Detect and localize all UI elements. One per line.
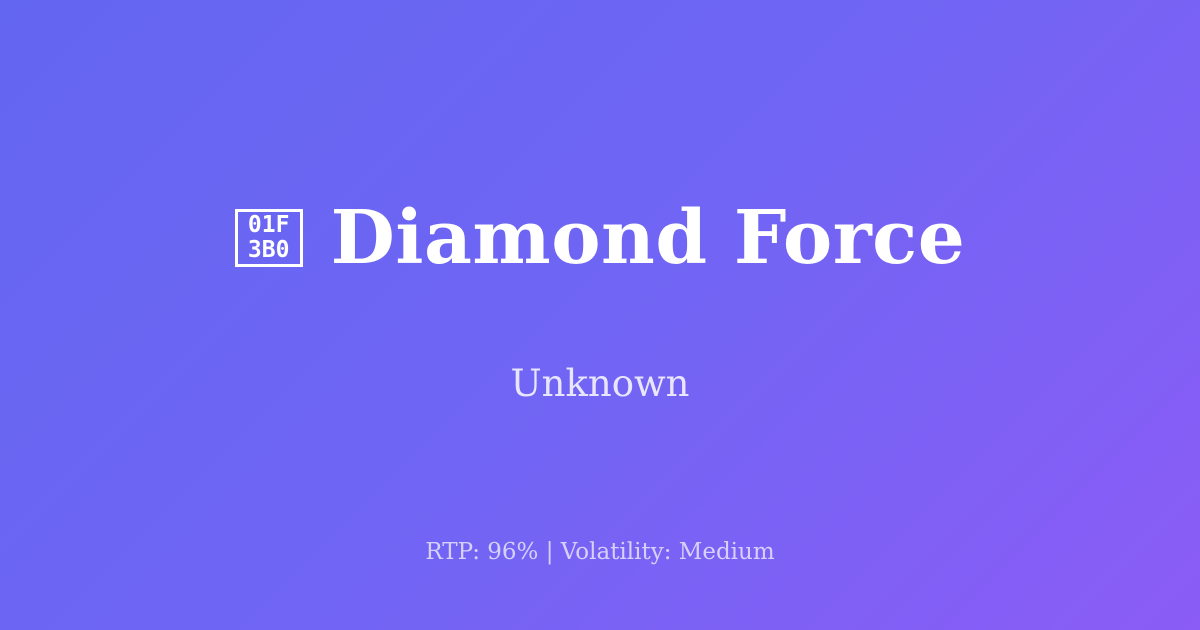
page-title: Diamond Force — [331, 201, 966, 275]
tofu-codepoint-bottom: 3B0 — [248, 238, 290, 263]
og-preview-card: 01F 3B0 Diamond Force Unknown RTP: 96% |… — [0, 0, 1200, 630]
game-stats-line: RTP: 96% | Volatility: Medium — [0, 538, 1200, 568]
slot-machine-icon: 01F 3B0 — [235, 209, 303, 267]
tofu-codepoint-top: 01F — [248, 213, 290, 238]
headline: 01F 3B0 Diamond Force — [235, 201, 966, 275]
game-provider-subtitle: Unknown — [0, 362, 1200, 406]
